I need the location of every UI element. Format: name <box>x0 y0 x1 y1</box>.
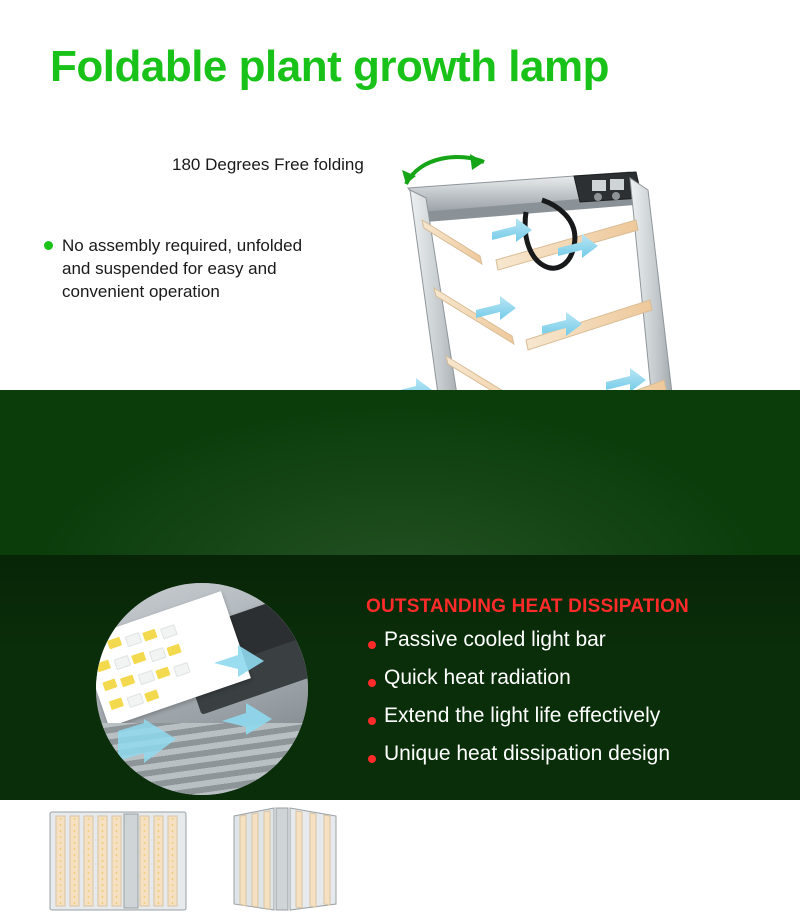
heat-section-title: OUTSTANDING HEAT DISSIPATION <box>366 596 689 618</box>
middle-green-band <box>0 390 800 555</box>
product-infographic: Foldable plant growth lamp 180 Degrees F… <box>0 0 800 800</box>
list-item: Unique heat dissipation design <box>366 740 786 778</box>
green-dot-icon <box>44 241 53 250</box>
list-item: Quick heat radiation <box>366 664 786 702</box>
list-item-label: Quick heat radiation <box>384 666 571 690</box>
page-title: Foldable plant growth lamp <box>50 42 770 92</box>
cyan-airflow-arrow-icon <box>214 637 274 683</box>
top-section: Foldable plant growth lamp 180 Degrees F… <box>0 0 800 390</box>
cyan-airflow-arrow-icon <box>118 719 180 767</box>
folded-panel-illustration <box>232 806 347 916</box>
list-item-label: Unique heat dissipation design <box>384 742 670 766</box>
list-item: Passive cooled light bar <box>366 626 786 664</box>
red-dot-icon <box>368 641 376 649</box>
red-dot-icon <box>368 679 376 687</box>
list-item-label: Passive cooled light bar <box>384 628 606 652</box>
red-dot-icon <box>368 755 376 763</box>
feature-bullet-text: No assembly required, unfolded and suspe… <box>62 234 317 303</box>
heat-feature-list: Passive cooled light bar Quick heat radi… <box>366 626 786 778</box>
unfolded-panel-illustration <box>48 806 188 916</box>
list-item: Extend the light life effectively <box>366 702 786 740</box>
cyan-airflow-arrow-icon <box>222 695 282 741</box>
red-dot-icon <box>368 717 376 725</box>
heat-sink-photo <box>96 583 308 795</box>
list-item-label: Extend the light life effectively <box>384 704 660 728</box>
